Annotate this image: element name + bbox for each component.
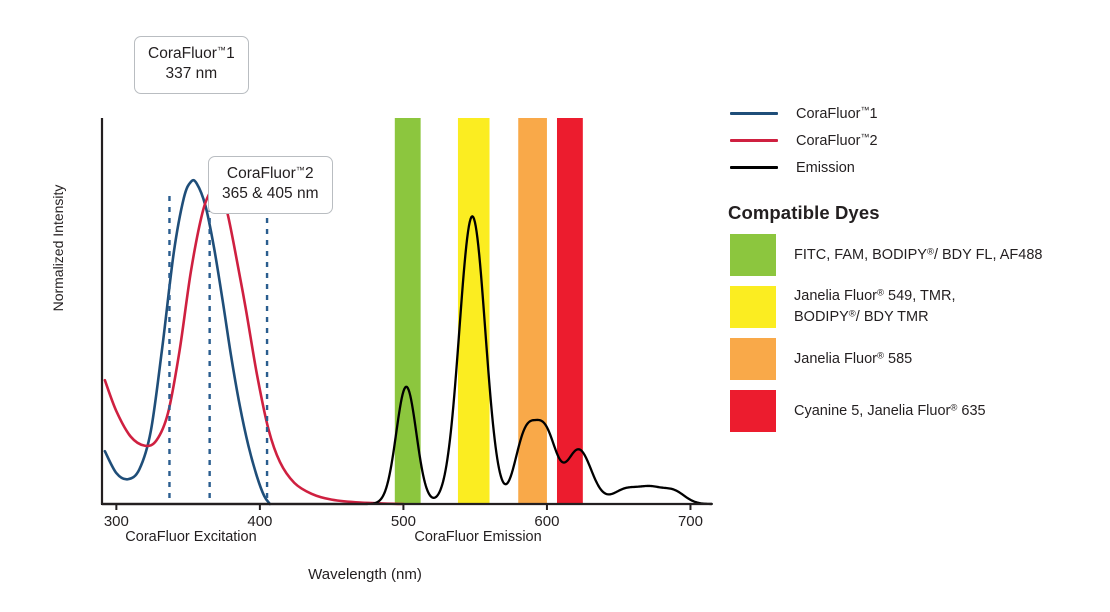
emission-range-label: CoraFluor Emission	[348, 529, 608, 545]
legend-label: Emission	[796, 160, 855, 176]
dye-label: FITC, FAM, BODIPY®/ BDY FL, AF488	[794, 245, 1042, 266]
dye-row-2: Janelia Fluor® 549, TMR,BODIPY®/ BDY TMR	[726, 284, 1110, 330]
x-tick-label-600: 600	[517, 513, 577, 530]
registered-mark: ®	[849, 308, 856, 319]
dye-label-fragment: 635	[957, 403, 985, 419]
y-axis-label: Normalized Intensity	[50, 168, 66, 328]
legend-line-swatch	[730, 166, 778, 169]
curve-corafluor1	[105, 180, 270, 504]
dye-row-4: Cyanine 5, Janelia Fluor® 635	[726, 388, 1110, 434]
red-band	[557, 118, 583, 504]
x-tick-label-700: 700	[660, 513, 720, 530]
spectra-chart: CoraFluor™1 337 nm CoraFluor™2 365 & 405…	[0, 0, 730, 612]
dye-color-swatch	[730, 390, 776, 432]
dye-label-line: BODIPY®/ BDY TMR	[794, 307, 955, 328]
dye-label: Janelia Fluor® 585	[794, 349, 912, 370]
compatible-dyes-list: FITC, FAM, BODIPY®/ BDY FL, AF488Janelia…	[726, 232, 1110, 434]
corafluor1-callout-line2: 337 nm	[148, 64, 235, 84]
dye-label-fragment: BODIPY	[794, 309, 849, 325]
x-axis-title: Wavelength (nm)	[0, 566, 730, 583]
dye-color-swatch	[730, 234, 776, 276]
legend-line-swatch	[730, 139, 778, 142]
dye-label-line: Janelia Fluor® 585	[794, 349, 912, 370]
dye-label-fragment: / BDY FL, AF488	[934, 247, 1043, 263]
corafluor1-callout-line1: CoraFluor™1	[148, 44, 235, 64]
legend-row-1: CoraFluor™1	[726, 100, 1110, 127]
corafluor1-callout: CoraFluor™1 337 nm	[134, 36, 249, 94]
dye-label-fragment: Janelia Fluor	[794, 351, 877, 367]
legend-line-swatch	[730, 112, 778, 115]
legend-row-2: CoraFluor™2	[726, 127, 1110, 154]
registered-mark: ®	[927, 246, 934, 257]
orange-band	[518, 118, 547, 504]
dye-label-line: FITC, FAM, BODIPY®/ BDY FL, AF488	[794, 245, 1042, 266]
dye-label: Cyanine 5, Janelia Fluor® 635	[794, 401, 986, 422]
dye-label-fragment: 549, TMR,	[884, 288, 955, 304]
registered-mark: ®	[877, 288, 884, 299]
dye-label-fragment: FITC, FAM, BODIPY	[794, 247, 927, 263]
chart-page: CoraFluor™1 337 nm CoraFluor™2 365 & 405…	[0, 0, 1110, 612]
dye-label-line: Cyanine 5, Janelia Fluor® 635	[794, 401, 986, 422]
x-tick-label-500: 500	[373, 513, 433, 530]
dye-label-fragment: 585	[884, 351, 912, 367]
corafluor2-callout: CoraFluor™2 365 & 405 nm	[208, 156, 333, 214]
dye-label-fragment: Janelia Fluor	[794, 288, 877, 304]
corafluor2-callout-line1: CoraFluor™2	[222, 164, 319, 184]
x-tick-label-300: 300	[86, 513, 146, 530]
excitation-range-label: CoraFluor Excitation	[61, 529, 321, 545]
dye-row-3: Janelia Fluor® 585	[726, 336, 1110, 382]
legend-row-3: Emission	[726, 154, 1110, 181]
legend-label-text: Emission	[796, 160, 855, 176]
corafluor2-callout-line2: 365 & 405 nm	[222, 184, 319, 204]
legend-label-suffix: 2	[869, 133, 877, 149]
curve-corafluor2	[105, 187, 404, 504]
legend-label-text: CoraFluor	[796, 133, 860, 149]
legend-label: CoraFluor™2	[796, 132, 878, 149]
x-tick-label-400: 400	[230, 513, 290, 530]
dye-row-1: FITC, FAM, BODIPY®/ BDY FL, AF488	[726, 232, 1110, 278]
green-band	[395, 118, 421, 504]
legend-label-suffix: 1	[869, 106, 877, 122]
dye-label-fragment: Cyanine 5, Janelia Fluor	[794, 403, 950, 419]
dye-label: Janelia Fluor® 549, TMR,BODIPY®/ BDY TMR	[794, 286, 955, 327]
legend-label: CoraFluor™1	[796, 105, 878, 122]
series-legend: CoraFluor™1CoraFluor™2Emission	[726, 100, 1110, 181]
legend-panel: CoraFluor™1CoraFluor™2Emission Compatibl…	[726, 100, 1110, 440]
registered-mark: ®	[877, 350, 884, 361]
legend-label-text: CoraFluor	[796, 106, 860, 122]
compatible-dyes-title: Compatible Dyes	[728, 202, 1110, 224]
dye-color-swatch	[730, 338, 776, 380]
dye-label-fragment: / BDY TMR	[856, 309, 929, 325]
dye-label-line: Janelia Fluor® 549, TMR,	[794, 286, 955, 307]
dye-color-swatch	[730, 286, 776, 328]
